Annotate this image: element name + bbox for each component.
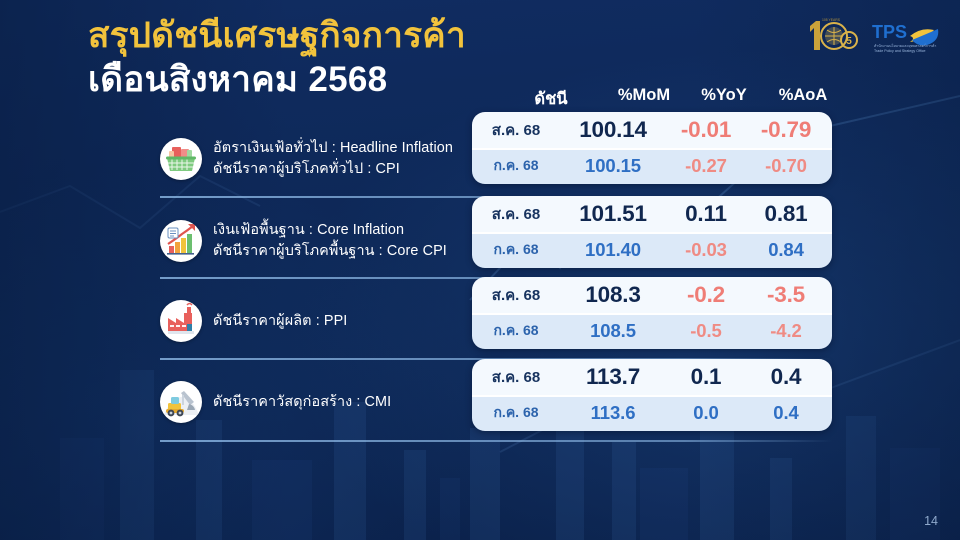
cell-mom: -0.01 [666, 112, 746, 148]
data-row-current: ส.ค. 68 101.51 0.11 0.81 0.94 [472, 196, 832, 232]
row-label-headline-inflation: อัตราเงินเฟ้อทั่วไป : Headline Inflation… [160, 138, 453, 180]
row-label-line-2: ดัชนีราคาผู้บริโภคพื้นฐาน : Core CPI [213, 241, 447, 262]
row-label-line-1: อัตราเงินเฟ้อทั่วไป : Headline Inflation [213, 138, 453, 159]
excavator-construction-icon [160, 381, 202, 423]
data-row-previous: ก.ค. 68 100.15 -0.27 -0.70 0.21 [472, 148, 832, 184]
data-row-current: ส.ค. 68 100.14 -0.01 -0.79 0.08 [472, 112, 832, 148]
cell-month: ก.ค. 68 [472, 148, 560, 184]
cell-index: 100.15 [560, 148, 666, 184]
cell-aoa: 0.4 [826, 395, 832, 431]
cell-index: 108.3 [560, 277, 666, 313]
cell-month: ส.ค. 68 [472, 359, 560, 395]
row-label-line-1: ดัชนีราคาผู้ผลิต : PPI [213, 311, 347, 332]
factory-icon [160, 300, 202, 342]
row-label-line-1: ดัชนีราคาวัสดุก่อสร้าง : CMI [213, 392, 391, 413]
cell-aoa: 0.94 [826, 196, 832, 232]
cell-index: 101.51 [560, 196, 666, 232]
data-card[interactable]: ส.ค. 68 100.14 -0.01 -0.79 0.08 ก.ค. 68 … [472, 112, 832, 184]
cell-yoy: 0.4 [746, 359, 826, 395]
cell-yoy: -0.79 [746, 112, 826, 148]
shopping-basket-icon [160, 138, 202, 180]
cell-month: ส.ค. 68 [472, 196, 560, 232]
row-label-line-2: ดัชนีราคาผู้บริโภคทั่วไป : CPI [213, 159, 453, 180]
cell-yoy: -3.5 [746, 277, 826, 313]
cell-month: ส.ค. 68 [472, 277, 560, 313]
cell-aoa: 0.08 [826, 112, 832, 148]
data-card[interactable]: ส.ค. 68 113.7 0.1 0.4 0.4 ก.ค. 68 113.6 … [472, 359, 832, 431]
row-label-ppi: ดัชนีราคาผู้ผลิต : PPI [160, 300, 347, 342]
cell-yoy: -4.2 [746, 313, 826, 349]
cell-index: 100.14 [560, 112, 666, 148]
cell-month: ก.ค. 68 [472, 395, 560, 431]
data-card[interactable]: ส.ค. 68 108.3 -0.2 -3.5 -2.5 ก.ค. 68 108… [472, 277, 832, 349]
bar-chart-growth-icon [160, 220, 202, 262]
cell-yoy: 0.4 [746, 395, 826, 431]
cell-mom: 0.11 [666, 196, 746, 232]
cell-month: ก.ค. 68 [472, 232, 560, 268]
row-label-text: เงินเฟ้อพื้นฐาน : Core Inflation ดัชนีรา… [213, 220, 447, 262]
row-label-cmi: ดัชนีราคาวัสดุก่อสร้าง : CMI [160, 381, 391, 423]
index-rows: อัตราเงินเฟ้อทั่วไป : Headline Inflation… [0, 0, 960, 540]
cell-mom: -0.03 [666, 232, 746, 268]
cell-aoa: -2.5 [826, 277, 832, 313]
cell-index: 101.40 [560, 232, 666, 268]
cell-mom: -0.2 [666, 277, 746, 313]
data-row-current: ส.ค. 68 113.7 0.1 0.4 0.4 [472, 359, 832, 395]
cell-aoa: 0.4 [826, 359, 832, 395]
cell-aoa: 0.21 [826, 148, 832, 184]
cell-index: 113.7 [560, 359, 666, 395]
cell-index: 113.6 [560, 395, 666, 431]
data-row-previous: ก.ค. 68 113.6 0.0 0.4 0.4 [472, 395, 832, 431]
cell-month: ก.ค. 68 [472, 313, 560, 349]
cell-yoy: 0.81 [746, 196, 826, 232]
cell-aoa: 0.95 [826, 232, 832, 268]
row-label-text: ดัชนีราคาวัสดุก่อสร้าง : CMI [213, 392, 391, 413]
cell-mom: -0.5 [666, 313, 746, 349]
data-row-current: ส.ค. 68 108.3 -0.2 -3.5 -2.5 [472, 277, 832, 313]
data-card[interactable]: ส.ค. 68 101.51 0.11 0.81 0.94 ก.ค. 68 10… [472, 196, 832, 268]
data-row-previous: ก.ค. 68 108.5 -0.5 -4.2 -2.3 [472, 313, 832, 349]
row-label-text: ดัชนีราคาผู้ผลิต : PPI [213, 311, 347, 332]
row-label-text: อัตราเงินเฟ้อทั่วไป : Headline Inflation… [213, 138, 453, 180]
row-divider [160, 440, 832, 442]
row-label-core-inflation: เงินเฟ้อพื้นฐาน : Core Inflation ดัชนีรา… [160, 220, 447, 262]
cell-index: 108.5 [560, 313, 666, 349]
cell-mom: 0.0 [666, 395, 746, 431]
cell-yoy: -0.70 [746, 148, 826, 184]
row-label-line-1: เงินเฟ้อพื้นฐาน : Core Inflation [213, 220, 447, 241]
page-number: 14 [924, 514, 938, 528]
cell-mom: 0.1 [666, 359, 746, 395]
data-row-previous: ก.ค. 68 101.40 -0.03 0.84 0.95 [472, 232, 832, 268]
cell-mom: -0.27 [666, 148, 746, 184]
cell-aoa: -2.3 [826, 313, 832, 349]
cell-month: ส.ค. 68 [472, 112, 560, 148]
cell-yoy: 0.84 [746, 232, 826, 268]
